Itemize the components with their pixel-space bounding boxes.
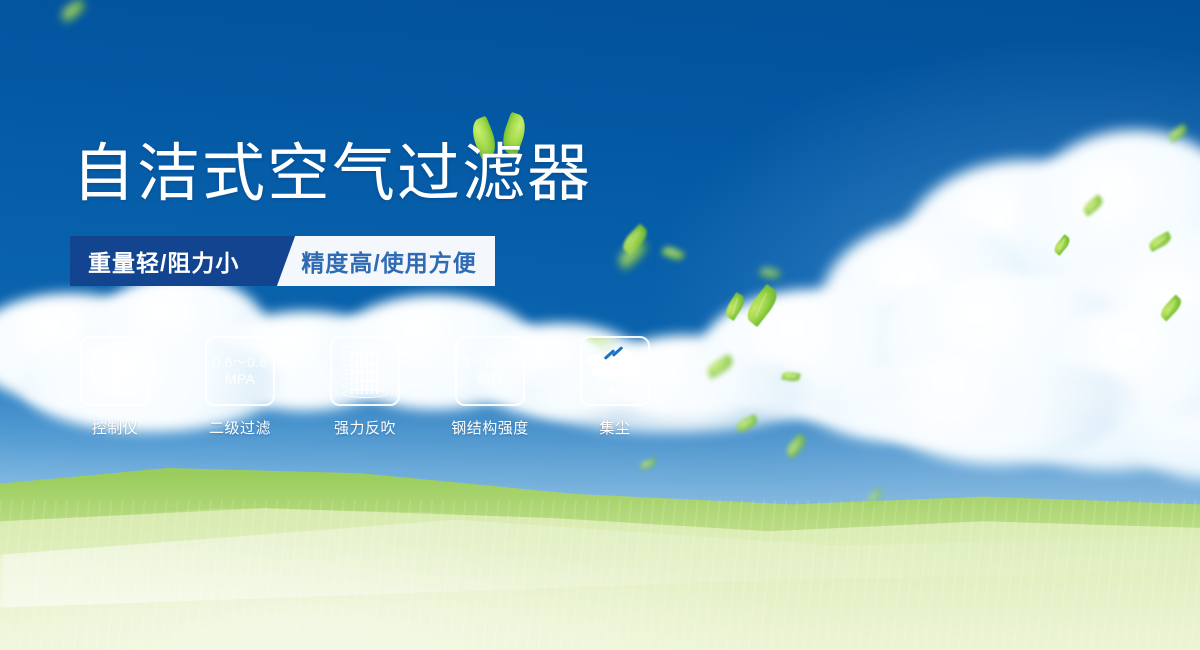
gauge-tick-icon: [137, 373, 140, 376]
subtitle-segment-right: 精度高/使用方便: [267, 236, 494, 286]
feature-item-secondary-filter[interactable]: 0.6～0.8 MPA 二级过滤: [205, 336, 275, 438]
gauge-needle-icon: [111, 353, 119, 391]
pressure-line-1: 0.6～0.8: [212, 354, 267, 370]
air-label: Air: [607, 383, 623, 397]
cloud-hole-icon: [593, 358, 605, 370]
subtitle-left-text: 重量轻/阻力小: [88, 244, 239, 278]
feature-icon-box: [330, 336, 400, 406]
subtitle-segment-left: 重量轻/阻力小: [70, 236, 269, 286]
gauge-tick-icon: [110, 347, 113, 350]
gauge-tick-icon: [90, 373, 93, 376]
banner-content: 自洁式空气过滤器 重量轻/阻力小 精度高/使用方便 NO OFF 控制仪: [0, 0, 1200, 650]
subtitle-pill: 重量轻/阻力小 精度高/使用方便: [70, 236, 495, 286]
gauge-tick-icon: [136, 361, 139, 364]
feature-label: 集尘: [599, 417, 630, 438]
gauge-tick-icon: [100, 388, 103, 391]
gauge-tick-icon: [133, 356, 136, 359]
steel-plate-text-icon: 3～8MM 钢板: [463, 354, 517, 389]
subtitle-right-text: 精度高/使用方便: [301, 244, 476, 278]
gauge-tick-icon: [94, 356, 97, 359]
feature-item-dust-collection[interactable]: Air 集尘: [580, 336, 650, 438]
gauge-tick-icon: [135, 379, 138, 382]
gauge-tick-icon: [92, 379, 95, 382]
gauge-tick-icon: [128, 351, 131, 354]
gauge-tick-icon: [104, 348, 107, 351]
promo-banner: 自洁式空气过滤器 重量轻/阻力小 精度高/使用方便 NO OFF 控制仪: [0, 0, 1200, 650]
steel-line-1: 3～8MM: [463, 354, 517, 370]
filter-stack-icon: [342, 345, 388, 397]
feature-item-controller[interactable]: NO OFF 控制仪: [80, 336, 150, 438]
page-title: 自洁式空气过滤器: [72, 143, 592, 206]
feature-icon-box: 3～8MM 钢板: [455, 336, 525, 406]
feature-icon-box: Air: [580, 336, 650, 406]
feature-label: 二级过滤: [209, 417, 271, 438]
gauge-label-off: OFF: [129, 386, 144, 393]
gauge-icon: NO OFF: [87, 344, 143, 398]
gauge-tick-icon: [99, 351, 102, 354]
feature-item-steel-strength[interactable]: 3～8MM 钢板 钢结构强度: [455, 336, 525, 438]
dust-cloud-icon: [588, 346, 642, 382]
gauge-tick-icon: [105, 391, 108, 394]
gauge-tick-icon: [122, 391, 125, 394]
pressure-line-2: MPA: [212, 371, 267, 389]
gauge-tick-icon: [117, 347, 120, 350]
feature-label: 强力反吹: [334, 417, 396, 438]
gauge-tick-icon: [137, 367, 140, 370]
pressure-text-icon: 0.6～0.8 MPA: [212, 354, 267, 389]
steel-line-2: 钢板: [463, 371, 517, 389]
feature-label: 钢结构强度: [451, 417, 529, 438]
gauge-tick-icon: [123, 348, 126, 351]
feature-label: 控制仪: [92, 417, 139, 438]
feature-icon-box: 0.6～0.8 MPA: [205, 336, 275, 406]
feature-icon-row: NO OFF 控制仪 0.6～0.8 MPA 二级过滤: [80, 336, 650, 438]
feature-icon-box: NO OFF: [80, 336, 150, 406]
gauge-tick-icon: [90, 367, 93, 370]
feature-item-blowback[interactable]: 强力反吹: [330, 336, 400, 438]
gauge-tick-icon: [95, 384, 98, 387]
